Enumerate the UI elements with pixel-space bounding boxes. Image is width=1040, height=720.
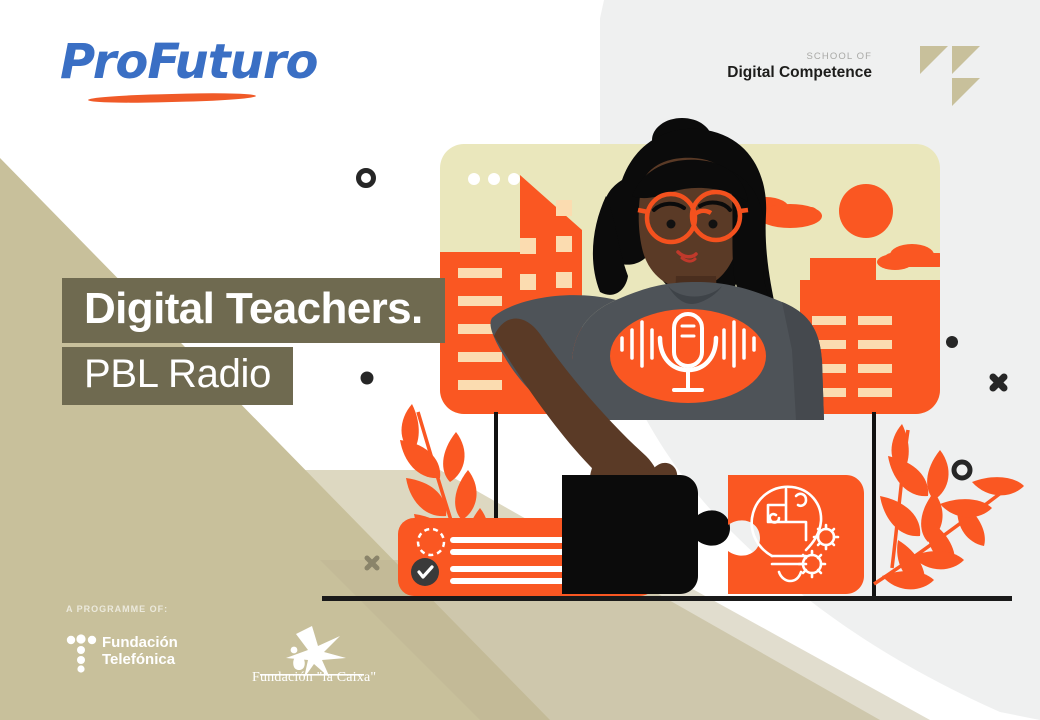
fundacion-la-caixa-logo[interactable]: Fundación "la Caixa": [252, 624, 382, 694]
school-logo-text: SCHOOL OF Digital Competence: [727, 52, 872, 83]
page-title-line-2: PBL Radio: [62, 347, 293, 405]
title-row-1: Digital Teachers.: [62, 278, 445, 343]
telefonica-line-1: Fundación: [102, 635, 178, 652]
school-name: Digital Competence: [727, 63, 872, 82]
profuturo-underline-swoosh: [88, 92, 256, 104]
school-kicker: SCHOOL OF: [727, 52, 872, 62]
dot-decoration-right: [946, 336, 958, 348]
ring-decoration-left: [359, 171, 374, 186]
telefonica-line-2: Telefónica: [102, 652, 178, 669]
cross-decoration-khaki: [367, 558, 377, 568]
footer-block: A PROGRAMME OF: Fundación Telefónica: [66, 604, 386, 692]
title-row-2: PBL Radio: [62, 347, 445, 405]
page-title-line-1: Digital Teachers.: [62, 278, 445, 343]
school-of-digital-competence-logo[interactable]: SCHOOL OF Digital Competence: [760, 52, 990, 114]
fundacion-telefonica-logo[interactable]: Fundación Telefónica: [66, 632, 186, 680]
telefonica-dots-icon: [66, 634, 100, 674]
cross-decoration-right: [993, 377, 1004, 388]
profuturo-logo[interactable]: ProFuturo: [60, 38, 275, 104]
title-block: Digital Teachers. PBL Radio: [62, 278, 445, 405]
profuturo-wordmark: ProFuturo: [60, 38, 275, 86]
footer-kicker: A PROGRAMME OF:: [66, 604, 386, 614]
footer-partner-logos: Fundación Telefónica Fundación "la Caixa…: [66, 632, 386, 692]
pinwheel-triangles-icon: [918, 44, 982, 108]
slide-canvas: ProFuturo SCHOOL OF Digital Competence D…: [0, 0, 1040, 720]
ring-decoration-right: [954, 462, 970, 478]
telefonica-wordmark: Fundación Telefónica: [102, 635, 178, 669]
lacaixa-caption: Fundación "la Caixa": [252, 670, 374, 686]
